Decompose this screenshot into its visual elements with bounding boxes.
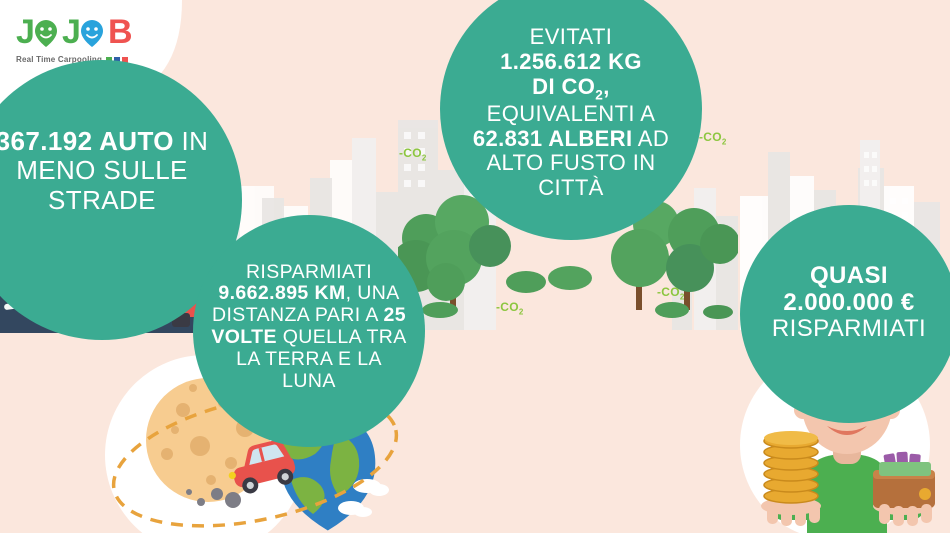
co2-line6: ALTO FUSTO IN	[486, 150, 655, 175]
co2-tag-1: -CO2	[399, 146, 427, 162]
co2-tag-4: -CO2	[657, 285, 685, 301]
infographic-canvas: J J B Real Time Carpooling	[0, 0, 950, 533]
co2-value: 1.256.612 KG	[500, 49, 642, 74]
stat-bubble-cars-text: 367.192 AUTO IN MENO SULLE STRADE	[0, 127, 234, 214]
co2-tag-sub: 2	[722, 137, 727, 146]
cars-line2: MENO SULLE	[16, 155, 188, 185]
km-line6: LUNA	[282, 370, 336, 392]
svg-text:J: J	[16, 13, 36, 51]
svg-text:B: B	[108, 13, 134, 51]
km-line2-rest: , UNA	[346, 282, 400, 304]
co2-di-co: DI CO	[532, 74, 595, 99]
stat-bubble-eur-text: QUASI 2.000.000 € RISPARMIATI	[760, 263, 938, 344]
km-line1: RISPARMIATI	[246, 261, 372, 283]
co2-tag-label: -CO	[399, 146, 422, 160]
logo-wordmark: J J B	[16, 12, 156, 52]
km-volte: VOLTE	[211, 326, 277, 348]
km-multiplier: 25	[383, 304, 406, 326]
co2-trees-value: 62.831 ALBERI	[473, 126, 633, 151]
co2-tag-2: -CO2	[699, 130, 727, 146]
co2-tag-sub: 2	[680, 292, 685, 301]
co2-line3: DI CO2,	[532, 74, 610, 99]
co2-line5-rest: AD	[633, 126, 670, 151]
stat-bubble-eur: QUASI 2.000.000 € RISPARMIATI	[740, 205, 950, 423]
logo-jojob-icon: J J B	[16, 12, 148, 52]
eur-value: 2.000.000 €	[783, 289, 914, 316]
cars-value: 367.192 AUTO	[0, 126, 174, 156]
svg-text:J: J	[62, 13, 82, 51]
eur-line1: QUASI	[810, 262, 888, 289]
co2-tag-sub: 2	[519, 307, 524, 316]
co2-line4: EQUIVALENTI A	[487, 101, 656, 126]
co2-tag-sub: 2	[422, 153, 427, 162]
brand-logo[interactable]: J J B Real Time Carpooling	[16, 12, 156, 64]
km-line3-rest: DISTANZA PARI A	[212, 304, 383, 326]
co2-tag-label: -CO	[496, 300, 519, 314]
co2-comma: ,	[603, 74, 610, 99]
co2-line1: EVITATI	[530, 24, 613, 49]
co2-line7: CITTÀ	[538, 175, 604, 200]
eur-line3: RISPARMIATI	[772, 315, 926, 342]
km-line5: LA TERRA E LA	[236, 348, 382, 370]
co2-tag-label: -CO	[699, 130, 722, 144]
co2-tag-label: -CO	[657, 285, 680, 299]
co2-tag-3: -CO2	[496, 300, 524, 316]
cars-line3: STRADE	[48, 185, 156, 215]
stat-bubble-co2-text: EVITATI 1.256.612 KG DI CO2, EQUIVALENTI…	[457, 25, 685, 200]
cars-line1-rest: IN	[174, 126, 208, 156]
stat-bubble-km-text: RISPARMIATI 9.662.895 KM, UNA DISTANZA P…	[197, 262, 420, 393]
km-value: 9.662.895 KM	[218, 282, 345, 304]
stat-bubble-km: RISPARMIATI 9.662.895 KM, UNA DISTANZA P…	[193, 215, 425, 447]
km-line4-rest: QUELLA TRA	[277, 326, 407, 348]
